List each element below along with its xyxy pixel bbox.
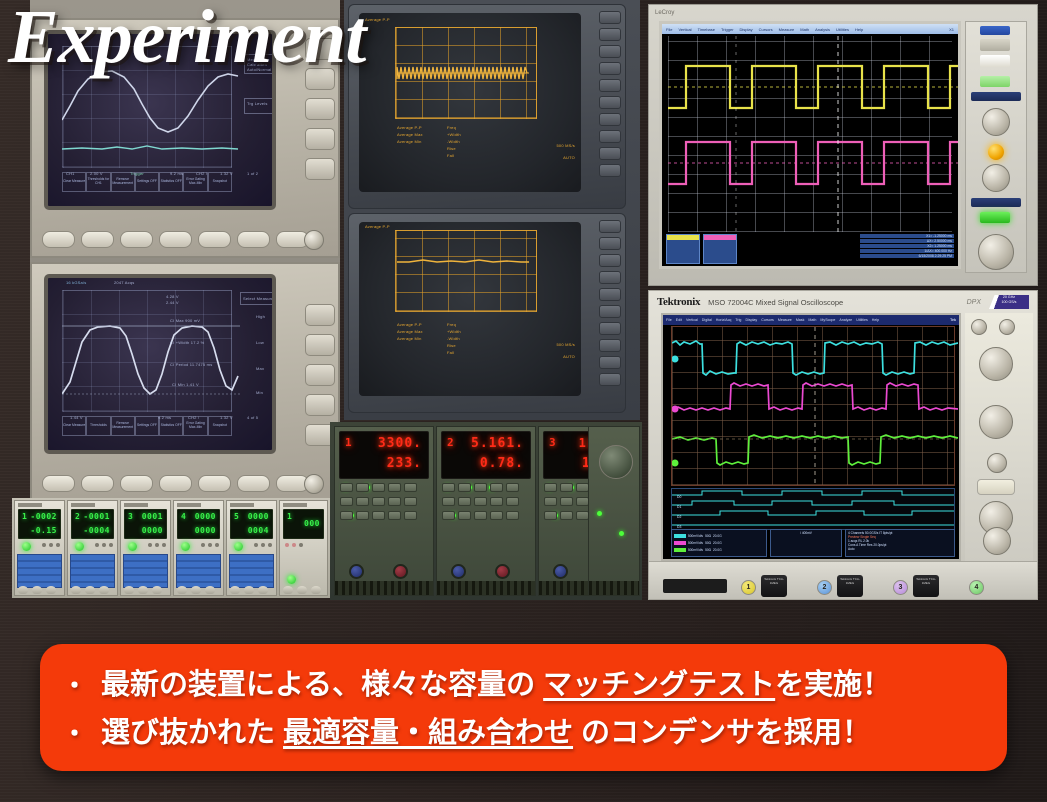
meter-display: 4 0000 0000 bbox=[177, 509, 220, 539]
softkey[interactable]: Snapshot bbox=[208, 172, 232, 192]
meter-power-led bbox=[128, 542, 137, 551]
softkey[interactable]: Thresholds bbox=[86, 416, 110, 436]
menu-item-edit[interactable]: Edit bbox=[676, 318, 682, 322]
osd-select-meas-box[interactable]: Select Measurement bbox=[240, 292, 276, 305]
amber-button[interactable] bbox=[599, 305, 621, 318]
amber-button-column[interactable] bbox=[597, 11, 623, 181]
psu-button[interactable] bbox=[544, 497, 557, 506]
osd-sample-rate: 16 kGSa/s bbox=[66, 280, 86, 285]
psu-button[interactable] bbox=[458, 511, 471, 520]
menu-item-myscope[interactable]: MyScope bbox=[820, 318, 835, 322]
amber-label-avg-min: Average Min bbox=[397, 336, 422, 341]
status-line: Auto bbox=[848, 547, 952, 551]
legend-extra: 20.0G bbox=[713, 541, 722, 545]
amber-label-scale: Average P-P bbox=[365, 224, 390, 229]
psu-button-grid[interactable] bbox=[442, 483, 530, 561]
psu-jack-negative[interactable] bbox=[349, 564, 364, 579]
amber-footer-mode: AUTO bbox=[563, 354, 575, 359]
menu-item-utilities[interactable]: Utilities bbox=[836, 27, 849, 32]
meter-feet bbox=[124, 586, 162, 594]
osd-meas-3: CI Period 11.7475 ms bbox=[170, 362, 212, 367]
psu-button[interactable] bbox=[442, 497, 455, 506]
callout-box: ・ 最新の装置による、様々な容量の マッチングテスト を実施！ ・ 選び抜かれた… bbox=[40, 644, 1007, 771]
menu-item-display[interactable]: Display bbox=[745, 318, 757, 322]
amber-button-column[interactable] bbox=[597, 220, 623, 390]
meter-power-led bbox=[234, 542, 243, 551]
amber-label-freq: Freq bbox=[447, 125, 456, 130]
channel-input-2[interactable]: 2 bbox=[817, 580, 832, 595]
psu-button[interactable] bbox=[372, 497, 385, 506]
softkey[interactable]: Remove Measurement bbox=[111, 416, 135, 436]
lecroy-brandbar: LeCroy bbox=[655, 7, 1031, 19]
menu-item-trigger[interactable]: Trigger bbox=[721, 27, 734, 32]
psu-button[interactable] bbox=[388, 483, 401, 492]
meter-module-partial: 1 000 bbox=[279, 500, 328, 596]
psu-button[interactable] bbox=[474, 483, 487, 492]
psu-status-led bbox=[619, 531, 624, 536]
amber-button[interactable] bbox=[599, 254, 621, 267]
front-button-row[interactable] bbox=[42, 231, 309, 248]
psu-button[interactable] bbox=[388, 511, 401, 520]
psu-button[interactable] bbox=[474, 497, 487, 506]
legend-label: 500mV/div bbox=[688, 534, 703, 538]
front-button[interactable] bbox=[120, 231, 153, 248]
front-button[interactable] bbox=[237, 475, 270, 492]
meter-value-top: -0002 bbox=[30, 512, 57, 521]
front-button[interactable] bbox=[198, 231, 231, 248]
lecroy-c1-badge[interactable] bbox=[666, 234, 700, 264]
meter-value-bottom: 0000 bbox=[142, 526, 163, 535]
amber-label-fall: Fall bbox=[447, 153, 454, 158]
amber-crt-bottom: Average P-P Average P-P Average Max Aver… bbox=[348, 213, 626, 413]
meter-value-top: -0001 bbox=[83, 512, 110, 521]
lecroy-knob[interactable] bbox=[982, 164, 1010, 192]
psu-button[interactable] bbox=[340, 511, 353, 520]
menu-item-trig[interactable]: Trig bbox=[735, 318, 741, 322]
meter-display: 5 0000 0004 bbox=[230, 509, 273, 539]
psu-button[interactable] bbox=[442, 511, 455, 520]
amber-button[interactable] bbox=[599, 147, 621, 160]
tek-menu-button[interactable] bbox=[977, 479, 1015, 495]
softkey-row-bottom[interactable]: Clear Measure Thresholds Remove Measurem… bbox=[62, 416, 232, 436]
menu-item-measure[interactable]: Measure bbox=[778, 318, 792, 322]
cursor-x2: X2= 1.25000 ms bbox=[860, 244, 954, 248]
tek-small-knob[interactable] bbox=[971, 319, 987, 335]
menu-item-file[interactable]: File bbox=[666, 27, 672, 32]
tek-front-panel bbox=[965, 313, 1033, 561]
psu-button[interactable] bbox=[544, 511, 557, 520]
meter-blue-panel bbox=[70, 554, 115, 588]
meter-feet bbox=[230, 586, 268, 594]
meter-indicator-dots bbox=[201, 543, 219, 547]
psu-jack-positive[interactable] bbox=[495, 564, 510, 579]
tek-logo-label: Tek bbox=[950, 318, 956, 322]
legend-swatch-ch1 bbox=[674, 534, 686, 538]
amber-button[interactable] bbox=[599, 288, 621, 301]
amber-label-avg-max: Average Max bbox=[397, 132, 423, 137]
lecroy-oscilloscope: LeCroy File Vertical Timebase Trigger Di… bbox=[648, 4, 1038, 286]
front-button[interactable] bbox=[159, 475, 192, 492]
menu-item-help[interactable]: Help bbox=[855, 27, 863, 32]
legend-row: 500mV/div 50Ω 20.0G bbox=[674, 546, 764, 553]
tek-front-slot bbox=[663, 579, 727, 593]
menu-item-digital[interactable]: Digital bbox=[702, 318, 712, 322]
meter-value-top: 0000 bbox=[248, 512, 269, 521]
meter-value-bottom: -0.15 bbox=[30, 526, 57, 535]
front-button[interactable] bbox=[120, 475, 153, 492]
psu-button[interactable] bbox=[404, 497, 417, 506]
tek-vertical-position-knob[interactable] bbox=[979, 405, 1013, 439]
menu-item-vertical[interactable]: Vertical bbox=[678, 27, 691, 32]
psu-channel: 2 5.161. 0.78. bbox=[436, 426, 536, 596]
menu-item-display[interactable]: Display bbox=[740, 27, 753, 32]
amber-button[interactable] bbox=[599, 62, 621, 75]
meter-indicator-dots bbox=[42, 543, 60, 547]
front-button[interactable] bbox=[81, 231, 114, 248]
front-button-row[interactable] bbox=[42, 475, 309, 492]
legend-value: 50Ω bbox=[705, 548, 711, 552]
amber-screen-top: Average P-P Average P-P Average Max Aver… bbox=[359, 13, 581, 192]
callout-line-2-pre: 選び抜かれた bbox=[101, 709, 275, 751]
amber-footer-rate: 500 MS/s bbox=[557, 143, 576, 148]
osd-menu-max: Max bbox=[256, 366, 264, 371]
tek-trigger-knob[interactable] bbox=[983, 527, 1011, 555]
psu-button[interactable] bbox=[490, 483, 503, 492]
legend-extra: 20.0G bbox=[713, 548, 722, 552]
osd-menu-page: 1 of 2 bbox=[247, 171, 258, 176]
meter-display: 3 0001 0000 bbox=[124, 509, 167, 539]
tek-model-label: MSO 72004C Mixed Signal Oscilloscope bbox=[708, 298, 843, 307]
softkey[interactable]: Thresholds for CH1 bbox=[86, 172, 110, 192]
legend-extra: 20.0G bbox=[713, 534, 722, 538]
meter-module: 3 0001 0000 bbox=[120, 500, 171, 596]
psu-channel: 1 3300. 233. bbox=[334, 426, 434, 596]
softkey[interactable]: Error Gating Max-Min bbox=[183, 172, 207, 192]
meter-power-led bbox=[287, 575, 296, 584]
menu-item-mask[interactable]: Mask bbox=[796, 318, 805, 322]
bezel-button[interactable] bbox=[305, 158, 335, 180]
amber-label-rise: Rise bbox=[447, 146, 456, 151]
amber-button[interactable] bbox=[599, 28, 621, 41]
menu-item-utilities[interactable]: Utilities bbox=[856, 318, 868, 322]
meter-module: 2 -0001 -0004 bbox=[67, 500, 118, 596]
psu-button[interactable] bbox=[356, 483, 369, 492]
lecroy-gray-button[interactable] bbox=[980, 39, 1010, 51]
psu-button[interactable] bbox=[404, 483, 417, 492]
amber-button[interactable] bbox=[599, 130, 621, 143]
lecroy-brand-label: LeCroy bbox=[655, 10, 674, 16]
psu-button[interactable] bbox=[404, 511, 417, 520]
svg-text:D2: D2 bbox=[677, 515, 681, 519]
osd-trig-level-box: Trg Levels bbox=[244, 98, 276, 114]
meter-indicator-dots bbox=[148, 543, 166, 547]
amber-label-nwidth: -Width bbox=[447, 139, 460, 144]
meter-blue-panel bbox=[123, 554, 168, 588]
meter-blue-panel bbox=[17, 554, 62, 588]
front-button[interactable] bbox=[81, 475, 114, 492]
amber-label-rise: Rise bbox=[447, 343, 456, 348]
amber-monitor-column: Average P-P Average P-P Average Max Aver… bbox=[344, 0, 640, 420]
amber-label-nwidth: -Width bbox=[447, 336, 460, 341]
psu-channel-index: 2 bbox=[447, 436, 455, 449]
psu-channel-index: 3 bbox=[549, 436, 557, 449]
meter-value-bottom: -0004 bbox=[83, 526, 110, 535]
bezel-button[interactable] bbox=[305, 98, 335, 120]
channel-input-3[interactable]: 3 bbox=[893, 580, 908, 595]
osd-menu-high: High bbox=[256, 314, 265, 319]
amber-button[interactable] bbox=[599, 237, 621, 250]
psu-jack-negative[interactable] bbox=[553, 564, 568, 579]
probe-connector-3[interactable]: Tektronix TCA-1MEG bbox=[913, 575, 939, 597]
lecroy-knob[interactable] bbox=[982, 108, 1010, 136]
bezel-button[interactable] bbox=[305, 304, 335, 326]
psu-button[interactable] bbox=[474, 511, 487, 520]
psu-button[interactable] bbox=[506, 483, 519, 492]
lecroy-screen[interactable]: File Vertical Timebase Trigger Display C… bbox=[659, 21, 961, 269]
meter-feet bbox=[71, 586, 109, 594]
bezel-button[interactable] bbox=[305, 334, 335, 356]
front-button[interactable] bbox=[198, 475, 231, 492]
psu-button[interactable] bbox=[356, 497, 369, 506]
legend-row: 500mV/div 50Ω 20.0G bbox=[674, 532, 764, 539]
amber-button[interactable] bbox=[599, 45, 621, 58]
psu-button[interactable] bbox=[442, 483, 455, 492]
lecroy-amber-led bbox=[988, 144, 1004, 160]
menu-item-timebase[interactable]: Timebase bbox=[698, 27, 715, 32]
lecroy-graticule bbox=[668, 36, 952, 232]
amber-label-avg-pp: Average P-P bbox=[397, 322, 422, 327]
softkey[interactable]: Settings OFF bbox=[135, 172, 159, 192]
tek-digital-traces: D0 D1 D2 D3 bbox=[672, 489, 954, 529]
softkey[interactable]: Snapshot bbox=[208, 416, 232, 436]
osd-meas-1: CI Max 900 mV bbox=[170, 318, 200, 323]
lecroy-c2-badge[interactable] bbox=[703, 234, 737, 264]
legend-label: 500mV/div bbox=[688, 548, 703, 552]
psu-button[interactable] bbox=[490, 497, 503, 506]
menu-item-analysis[interactable]: Analysis bbox=[815, 27, 830, 32]
osd-trig-level-label: Trg Levels bbox=[247, 101, 268, 106]
psu-button[interactable] bbox=[560, 483, 573, 492]
meter-label-strip bbox=[124, 503, 148, 507]
psu-button[interactable] bbox=[356, 511, 369, 520]
amber-label-freq: Freq bbox=[447, 322, 456, 327]
meter-feet bbox=[283, 586, 321, 594]
tek-spec-badge: 20 GHz 100 GS/s bbox=[989, 295, 1029, 309]
amber-button[interactable] bbox=[599, 96, 621, 109]
bezel-button[interactable] bbox=[305, 128, 335, 150]
lecroy-run-button[interactable] bbox=[980, 212, 1010, 223]
front-button[interactable] bbox=[42, 231, 75, 248]
meter-indicator-dots bbox=[254, 543, 272, 547]
channel-input-4[interactable]: 4 bbox=[969, 580, 984, 595]
amber-button[interactable] bbox=[599, 322, 621, 335]
meter-module: 5 0000 0004 bbox=[226, 500, 277, 596]
menu-item-measure[interactable]: Measure bbox=[779, 27, 795, 32]
psu-button[interactable] bbox=[506, 497, 519, 506]
meter-label-strip bbox=[283, 503, 307, 507]
bezel-button[interactable] bbox=[305, 394, 335, 416]
meter-label-strip bbox=[71, 503, 95, 507]
tek-channel-inputs: 1 Tektronix TCA-1MEG 2 Tektronix TCA-1ME… bbox=[649, 561, 1037, 599]
osd-cursor-a: 4.28 V bbox=[166, 294, 179, 299]
meter-value-top: 0000 bbox=[195, 512, 216, 521]
menu-item-cursors[interactable]: Cursors bbox=[761, 318, 774, 322]
menu-item-math[interactable]: Math bbox=[800, 27, 809, 32]
lecroy-menubar[interactable]: File Vertical Timebase Trigger Display C… bbox=[662, 24, 958, 34]
psu-jack-positive[interactable] bbox=[393, 564, 408, 579]
psu-button[interactable] bbox=[372, 483, 385, 492]
softkey[interactable]: Clear Measure bbox=[62, 416, 86, 436]
tek-menubar[interactable]: File Edit Vertical Digital Horiz/Acq Tri… bbox=[663, 315, 959, 325]
psu-button[interactable] bbox=[340, 483, 353, 492]
lecroy-multipurpose-knob[interactable] bbox=[978, 234, 1014, 270]
amber-button[interactable] bbox=[599, 11, 621, 24]
tek-small-knob[interactable] bbox=[999, 319, 1015, 335]
amber-button[interactable] bbox=[599, 113, 621, 126]
meter-feet bbox=[18, 586, 56, 594]
cursor-dx: ΔX= 2.50000 ms bbox=[860, 239, 954, 243]
amber-button[interactable] bbox=[599, 79, 621, 92]
front-button[interactable] bbox=[159, 231, 192, 248]
menu-item-vertical[interactable]: Vertical bbox=[686, 318, 698, 322]
meter-index: 4 bbox=[181, 512, 186, 521]
psu-button[interactable] bbox=[490, 511, 503, 520]
lecroy-section-label bbox=[971, 92, 1021, 101]
bezel-button[interactable] bbox=[305, 364, 335, 386]
psu-vents bbox=[335, 581, 433, 595]
tek-digital-channels: D0 D1 D2 D3 bbox=[671, 488, 955, 530]
front-button[interactable] bbox=[42, 475, 75, 492]
amber-label-avg-max: Average Max bbox=[397, 329, 423, 334]
psu-voltage-readout: 5.161. bbox=[471, 436, 524, 451]
softkey[interactable]: Settings OFF bbox=[135, 416, 159, 436]
amber-button[interactable] bbox=[599, 164, 621, 177]
power-supply-rack: 1 3300. 233. 2 5.161. 0.78. bbox=[330, 422, 642, 600]
amber-button[interactable] bbox=[599, 356, 621, 369]
softkey[interactable]: Statistics OFF bbox=[159, 172, 183, 192]
meter-indicator-dots bbox=[285, 543, 323, 547]
menu-item-help[interactable]: Help bbox=[872, 318, 879, 322]
meter-value-top: 000 bbox=[304, 519, 320, 528]
psu-button[interactable] bbox=[560, 497, 573, 506]
menu-item-horizacq[interactable]: Horiz/Acq bbox=[716, 318, 732, 322]
psu-button[interactable] bbox=[458, 483, 471, 492]
softkey[interactable]: Remove Measurement bbox=[111, 172, 135, 192]
psu-button-grid[interactable] bbox=[340, 483, 428, 561]
callout-line-1-post: を実施！ bbox=[775, 661, 891, 703]
legend-swatch-ch3 bbox=[674, 548, 686, 552]
meter-blue-panel bbox=[176, 554, 221, 588]
softkey[interactable]: Clear Measure bbox=[62, 172, 86, 192]
amber-button[interactable] bbox=[599, 339, 621, 352]
lecroy-front-panel bbox=[965, 21, 1027, 273]
psu-button[interactable] bbox=[544, 483, 557, 492]
meter-value-bottom: 0000 bbox=[195, 526, 216, 535]
amber-button[interactable] bbox=[599, 220, 621, 233]
tek-status-readout: 4 Channels 50.0GS/s IT 8pts/pt Preview S… bbox=[845, 529, 955, 557]
lecroy-green-button[interactable] bbox=[980, 76, 1010, 87]
control-knob[interactable] bbox=[304, 474, 324, 494]
tek-offset-knob[interactable] bbox=[987, 453, 1007, 473]
psu-button[interactable] bbox=[458, 497, 471, 506]
psu-button[interactable] bbox=[560, 511, 573, 520]
lecroy-traces bbox=[668, 36, 958, 232]
osd-meas-2: CI +Width 17.2 % bbox=[170, 340, 204, 345]
amber-crt-top: Average P-P Average P-P Average Max Aver… bbox=[348, 4, 626, 209]
osd-menu-page: 4 of 5 bbox=[247, 415, 258, 420]
tek-brand-label: Tektronix bbox=[657, 296, 700, 308]
svg-text:D1: D1 bbox=[677, 505, 681, 509]
menu-item-cursors[interactable]: Cursors bbox=[759, 27, 773, 32]
callout-line-2-underline: 最適容量・組み合わせ bbox=[283, 709, 573, 751]
tek-traces bbox=[672, 327, 958, 485]
menu-item-math[interactable]: Math bbox=[808, 318, 816, 322]
softkey[interactable]: Statistics OFF bbox=[159, 416, 183, 436]
softkey[interactable]: Error Gating Max-Min bbox=[183, 416, 207, 436]
meter-value-bottom: 0004 bbox=[248, 526, 269, 535]
psu-voltage-readout: 3300. bbox=[378, 436, 422, 451]
psu-jack-negative[interactable] bbox=[451, 564, 466, 579]
amber-label-scale: Average P-P bbox=[365, 17, 390, 22]
psu-button[interactable] bbox=[388, 497, 401, 506]
amber-button[interactable] bbox=[599, 373, 621, 386]
lecroy-white-button[interactable] bbox=[980, 55, 1010, 67]
green-lcd-meter-bank: 1 -0002 -0.15 2 -0001 -0004 3 bbox=[12, 498, 330, 598]
svg-text:D0: D0 bbox=[677, 495, 681, 499]
probe-connector-1[interactable]: Tektronix TCA-1MEG bbox=[761, 575, 787, 597]
bullet-marker: ・ bbox=[62, 714, 87, 750]
tek-bottom-bar: 500mV/div 50Ω 20.0G 500mV/div 50Ω 20.0G … bbox=[671, 529, 955, 557]
psu-button[interactable] bbox=[506, 511, 519, 520]
amber-label-fall: Fall bbox=[447, 350, 454, 355]
flat-step-trace bbox=[389, 228, 549, 324]
psu-controller-module bbox=[588, 426, 640, 596]
probe-connector-2[interactable]: Tektronix TCA-1MEG bbox=[837, 575, 863, 597]
amber-screen-bottom: Average P-P Average P-P Average Max Aver… bbox=[359, 222, 581, 396]
softkey-row-top[interactable]: Clear Measure Thresholds for CH1 Remove … bbox=[62, 172, 232, 192]
meter-module: 1 -0002 -0.15 bbox=[14, 500, 65, 596]
lecroy-blue-button[interactable] bbox=[980, 26, 1010, 35]
psu-status-led bbox=[597, 511, 602, 516]
psu-button[interactable] bbox=[372, 511, 385, 520]
psu-current-readout: 0.78. bbox=[480, 456, 524, 471]
tek-dpx-label: DPX bbox=[967, 299, 981, 306]
menu-item-analyze[interactable]: Analyze bbox=[839, 318, 852, 322]
channel-input-1[interactable]: 1 bbox=[741, 580, 756, 595]
meter-display: 1 -0002 -0.15 bbox=[18, 509, 61, 539]
page-title: Experiment bbox=[8, 0, 365, 81]
psu-vents bbox=[589, 581, 639, 595]
control-knob[interactable] bbox=[304, 230, 324, 250]
meter-power-led bbox=[181, 542, 190, 551]
tek-vertical-scale-knob[interactable] bbox=[979, 347, 1013, 381]
tek-graticule bbox=[671, 326, 955, 486]
front-button[interactable] bbox=[237, 231, 270, 248]
osd-meas-4: CI Min 1.41 V bbox=[172, 382, 199, 387]
meter-label-strip bbox=[177, 503, 201, 507]
bullet-marker: ・ bbox=[62, 666, 87, 702]
callout-line-1-pre: 最新の装置による、様々な容量の bbox=[101, 661, 535, 703]
tek-header: Tektronix MSO 72004C Mixed Signal Oscill… bbox=[657, 294, 1029, 310]
amber-button[interactable] bbox=[599, 271, 621, 284]
tek-screen[interactable]: File Edit Vertical Digital Horiz/Acq Tri… bbox=[661, 313, 961, 561]
lecroy-channel-badges[interactable] bbox=[666, 234, 737, 264]
menu-item-file[interactable]: File bbox=[666, 318, 672, 322]
controller-knob[interactable] bbox=[599, 445, 633, 479]
psu-button[interactable] bbox=[340, 497, 353, 506]
osd-menu-low: Low bbox=[256, 340, 264, 345]
menu-zoom-indicator: X1 bbox=[949, 27, 954, 32]
